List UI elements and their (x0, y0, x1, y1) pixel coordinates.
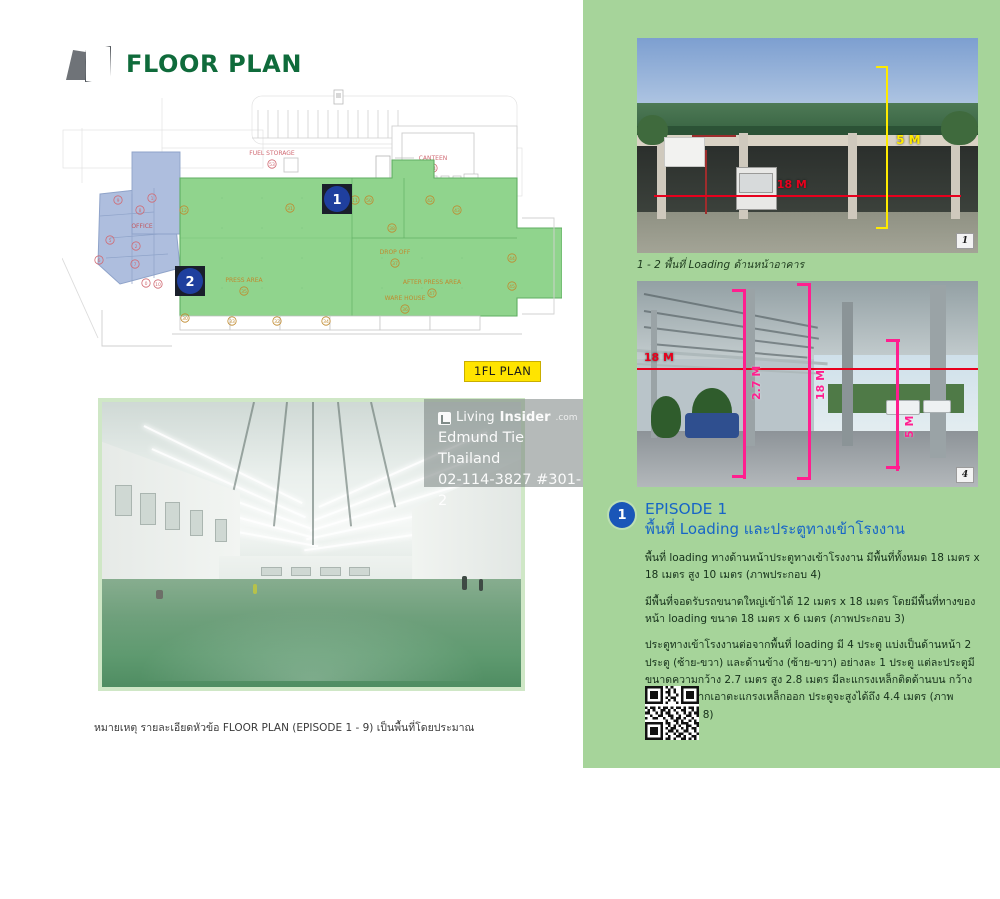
svg-text:12: 12 (181, 208, 187, 214)
episode-number-badge: 1 (609, 502, 635, 528)
svg-text:45: 45 (509, 284, 515, 290)
svg-text:6: 6 (98, 258, 101, 264)
svg-text:1: 1 (151, 196, 154, 202)
bay-height-line-2 (808, 283, 811, 479)
svg-text:1: 1 (332, 193, 341, 208)
bay-height-label-3: 5 M (903, 415, 916, 437)
floor-level-badge: 1FL PLAN (464, 361, 541, 382)
watermark-overlay: LivingInsider.com Edmund Tie Thailand 02… (424, 399, 588, 487)
height-annotation-line (886, 66, 888, 229)
width-annotation-line (654, 195, 961, 197)
episode-paragraph: พื้นที่ loading ทางด้านหน้าประตูทางเข้าโ… (645, 550, 989, 585)
svg-text:5: 5 (109, 238, 112, 244)
svg-text:50: 50 (366, 198, 372, 204)
svg-text:31: 31 (287, 206, 293, 212)
svg-text:FUEL STORAGE: FUEL STORAGE (249, 150, 295, 157)
height-annotation-label: 5 M (896, 133, 920, 147)
svg-text:OFFICE: OFFICE (131, 223, 153, 230)
episode-subtitle: พื้นที่ Loading และประตูทางเข้าโรงงาน (645, 520, 905, 540)
svg-text:AFTER PRESS AREA: AFTER PRESS AREA (403, 279, 462, 286)
left-column: FLOOR PLAN (0, 0, 583, 899)
svg-text:36: 36 (402, 307, 408, 313)
svg-text:8: 8 (139, 208, 142, 214)
page-title: FLOOR PLAN (126, 50, 302, 78)
qr-code[interactable] (645, 686, 699, 740)
bay-height-label-1: 2.7 M (750, 366, 763, 400)
page-root: FLOOR PLAN (0, 0, 1000, 899)
svg-text:42: 42 (427, 198, 433, 204)
svg-text:35: 35 (241, 289, 247, 295)
right-green-panel: 18 M 5 M 1 1 - 2 พื้นที่ Loading ด้านหน้… (583, 0, 1000, 768)
svg-text:53: 53 (269, 162, 275, 168)
svg-text:2: 2 (185, 275, 194, 290)
svg-text:47: 47 (429, 291, 435, 297)
floor-plan-svg: CANTEEN 54 FUEL STORAGE 53 OFF (62, 88, 562, 388)
svg-text:7: 7 (134, 262, 137, 268)
bay-height-line-1 (743, 289, 746, 479)
floor-plan-drawing: CANTEEN 54 FUEL STORAGE 53 OFF (62, 88, 562, 388)
floor-plan-marker-1: 1 (322, 184, 352, 214)
svg-text:32: 32 (274, 319, 280, 325)
bay-height-label-2: 18 M (814, 370, 827, 400)
episode-title: EPISODE 1 (645, 500, 905, 519)
watermark-brand-tld: .com (555, 412, 577, 425)
bay-width-annotation-label: 18 M (644, 351, 674, 364)
qr-code-svg (645, 686, 699, 740)
svg-text:PRESS AREA: PRESS AREA (225, 277, 263, 284)
svg-text:2: 2 (135, 244, 138, 250)
svg-text:44: 44 (509, 256, 515, 262)
photo-number-badge: 4 (956, 467, 974, 483)
watermark-phone: 02-114-3827 #301-2 (438, 470, 588, 512)
loading-bay-photo: 18 M 2.7 M 18 M 5 M 4 (637, 281, 978, 487)
floor-plan-header: FLOOR PLAN (66, 46, 302, 82)
svg-text:30: 30 (182, 316, 188, 322)
photo-number-badge: 1 (956, 233, 974, 249)
floor-plan-note: หมายเหตุ รายละเอียดหัวข้อ FLOOR PLAN (EP… (94, 719, 474, 736)
watermark-company: Edmund Tie Thailand (438, 428, 588, 470)
svg-text:34: 34 (323, 319, 329, 325)
watermark-brand-part2: Insider (500, 409, 551, 428)
bay-height-line-3 (896, 339, 899, 471)
svg-text:37: 37 (392, 261, 398, 267)
episode-headings: EPISODE 1 พื้นที่ Loading และประตูทางเข้… (645, 500, 905, 540)
svg-text:43: 43 (454, 208, 460, 214)
svg-text:38: 38 (389, 226, 395, 232)
watermark-brand-part1: Living (456, 409, 495, 428)
svg-text:WARE HOUSE: WARE HOUSE (385, 295, 426, 302)
open-book-icon (66, 46, 112, 82)
svg-text:11: 11 (352, 198, 358, 204)
width-annotation-label: 18 M (777, 178, 807, 191)
episode-paragraph: มีพื้นที่จอดรับรถขนาดใหญ่เข้าได้ 12 เมตร… (645, 594, 989, 629)
loading-exterior-photo: 18 M 5 M 1 (637, 38, 978, 253)
livinginsider-logo-icon (438, 412, 451, 425)
svg-text:33: 33 (229, 319, 235, 325)
svg-text:0: 0 (145, 281, 148, 287)
floor-plan-marker-2: 2 (175, 266, 205, 296)
photo1-caption: 1 - 2 พื้นที่ Loading ด้านหน้าอาคาร (637, 256, 804, 273)
svg-text:10: 10 (155, 282, 161, 288)
watermark-brand: LivingInsider.com (438, 409, 588, 428)
svg-text:DROP OFF: DROP OFF (380, 249, 411, 256)
svg-text:9: 9 (117, 198, 120, 204)
